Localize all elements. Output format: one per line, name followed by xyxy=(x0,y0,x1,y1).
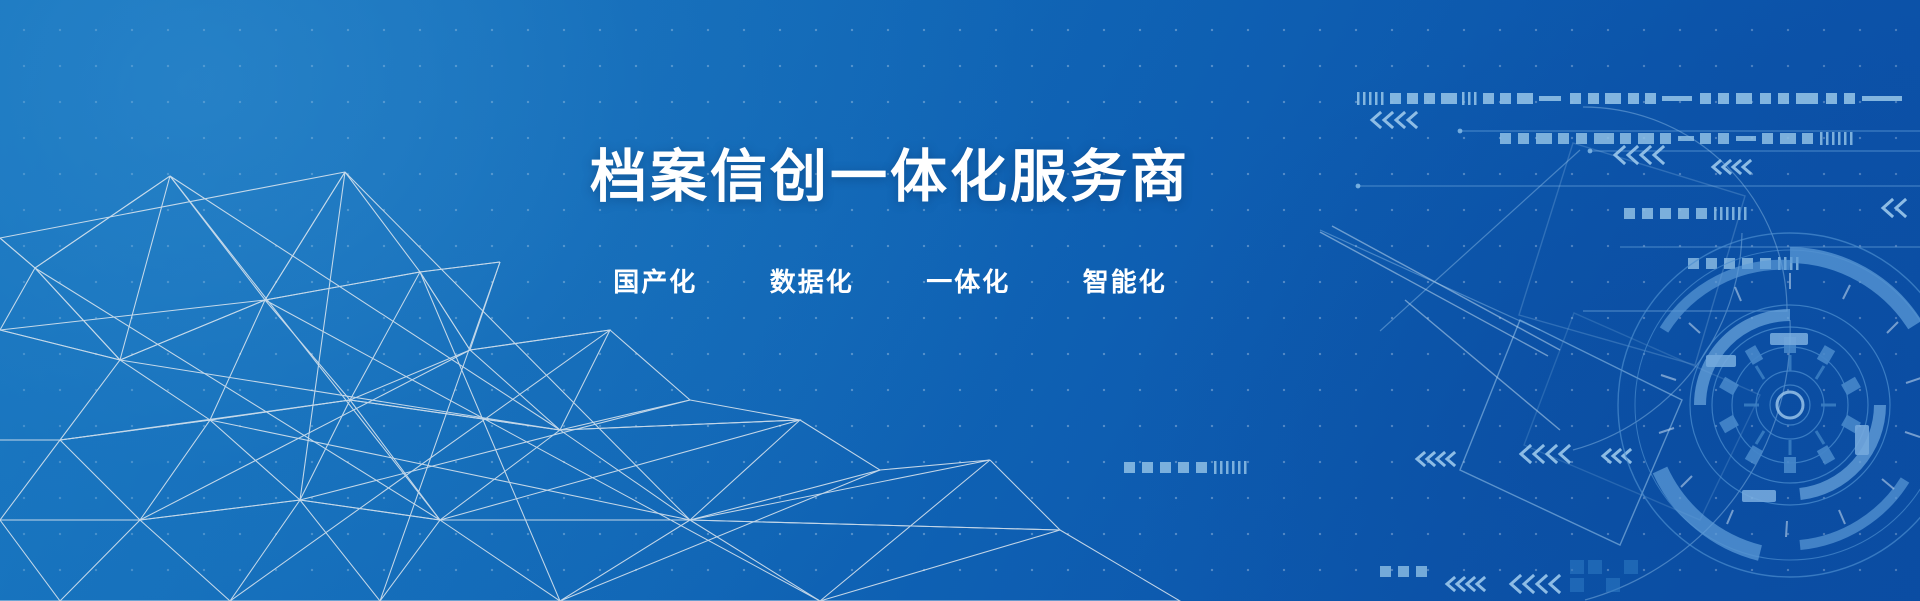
keyword-item-1: 国产化 xyxy=(613,262,697,299)
dot-grid-fade-overlay xyxy=(0,0,1920,601)
polygon-wireframe-mesh xyxy=(0,0,1920,601)
background-glow-left xyxy=(0,0,1040,601)
keyword-item-4: 智能化 xyxy=(1083,262,1167,299)
hud-decorations xyxy=(0,0,1920,601)
banner-text-block: 档案信创一体化服务商 国产化 数据化 一体化 智能化 xyxy=(0,148,1780,299)
keyword-list: 国产化 数据化 一体化 智能化 xyxy=(0,262,1780,299)
keyword-item-3: 一体化 xyxy=(926,262,1010,299)
hero-banner: 档案信创一体化服务商 国产化 数据化 一体化 智能化 xyxy=(0,0,1920,601)
keyword-item-2: 数据化 xyxy=(770,262,854,299)
page-title: 档案信创一体化服务商 xyxy=(0,148,1780,208)
background-glow-right xyxy=(1120,0,1920,601)
dot-grid-pattern xyxy=(0,0,1920,601)
